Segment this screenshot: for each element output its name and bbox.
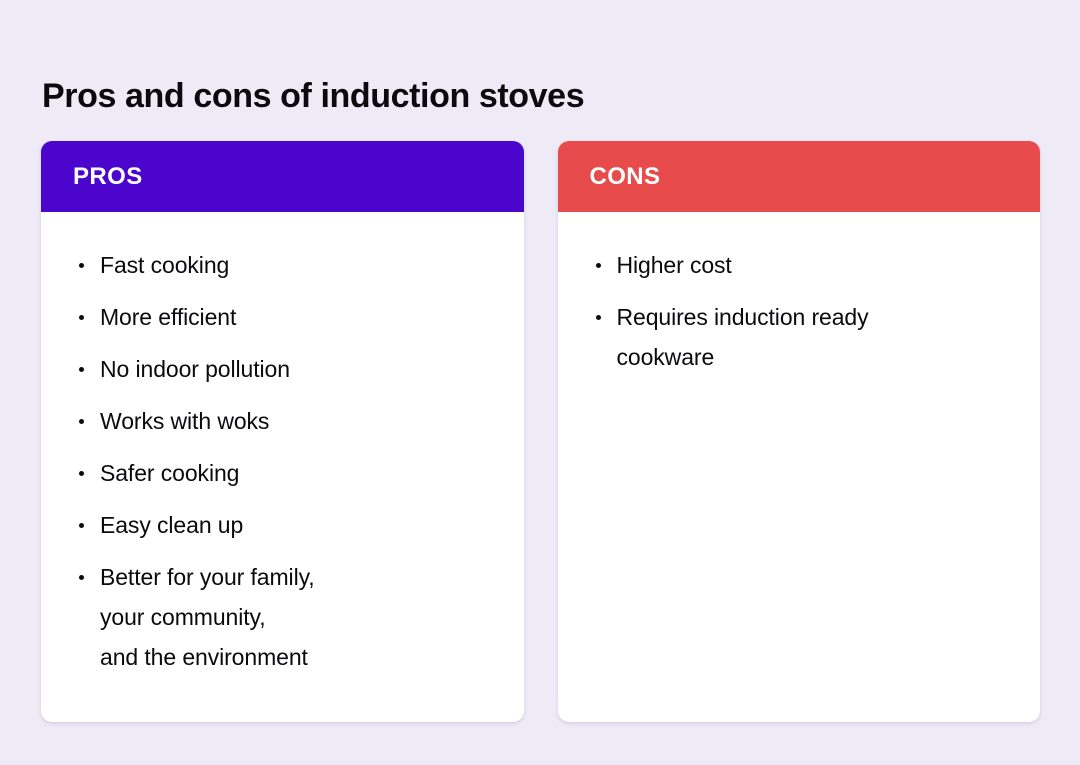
- list-item-label: More efficient: [100, 297, 496, 337]
- bullet-icon: [79, 523, 84, 528]
- list-item-label: Fast cooking: [100, 245, 496, 285]
- list-item-label: Works with woks: [100, 401, 496, 441]
- list-item: Higher cost: [586, 245, 1013, 285]
- list-item-label: Requires induction ready cookware: [617, 297, 1013, 377]
- cons-card: CONS Higher cost Requires induction read…: [558, 141, 1041, 722]
- list-item: More efficient: [69, 297, 496, 337]
- list-item: No indoor pollution: [69, 349, 496, 389]
- list-item: Easy clean up: [69, 505, 496, 545]
- cons-card-body: Higher cost Requires induction ready coo…: [558, 212, 1041, 722]
- list-item-label: Higher cost: [617, 245, 1013, 285]
- list-item: Safer cooking: [69, 453, 496, 493]
- list-item: Better for your family, your community, …: [69, 557, 496, 677]
- bullet-icon: [596, 263, 601, 268]
- pros-card-body: Fast cooking More efficient No indoor po…: [41, 212, 524, 722]
- pros-list: Fast cooking More efficient No indoor po…: [69, 245, 496, 677]
- page-title: Pros and cons of induction stoves: [42, 75, 584, 117]
- pros-card: PROS Fast cooking More efficient No indo…: [41, 141, 524, 722]
- list-item-label: Safer cooking: [100, 453, 496, 493]
- bullet-icon: [79, 263, 84, 268]
- infographic-root: Pros and cons of induction stoves PROS F…: [0, 0, 1080, 765]
- comparison-cards: PROS Fast cooking More efficient No indo…: [41, 141, 1040, 722]
- cons-card-header: CONS: [558, 141, 1041, 212]
- list-item-label: No indoor pollution: [100, 349, 496, 389]
- bullet-icon: [596, 315, 601, 320]
- cons-list: Higher cost Requires induction ready coo…: [586, 245, 1013, 377]
- list-item-label: Better for your family, your community, …: [100, 557, 496, 677]
- bullet-icon: [79, 471, 84, 476]
- list-item: Works with woks: [69, 401, 496, 441]
- pros-header-label: PROS: [73, 163, 143, 191]
- pros-card-header: PROS: [41, 141, 524, 212]
- list-item-label: Easy clean up: [100, 505, 496, 545]
- bullet-icon: [79, 575, 84, 580]
- list-item: Requires induction ready cookware: [586, 297, 1013, 377]
- bullet-icon: [79, 315, 84, 320]
- bullet-icon: [79, 419, 84, 424]
- list-item: Fast cooking: [69, 245, 496, 285]
- bullet-icon: [79, 367, 84, 372]
- cons-header-label: CONS: [590, 163, 661, 191]
